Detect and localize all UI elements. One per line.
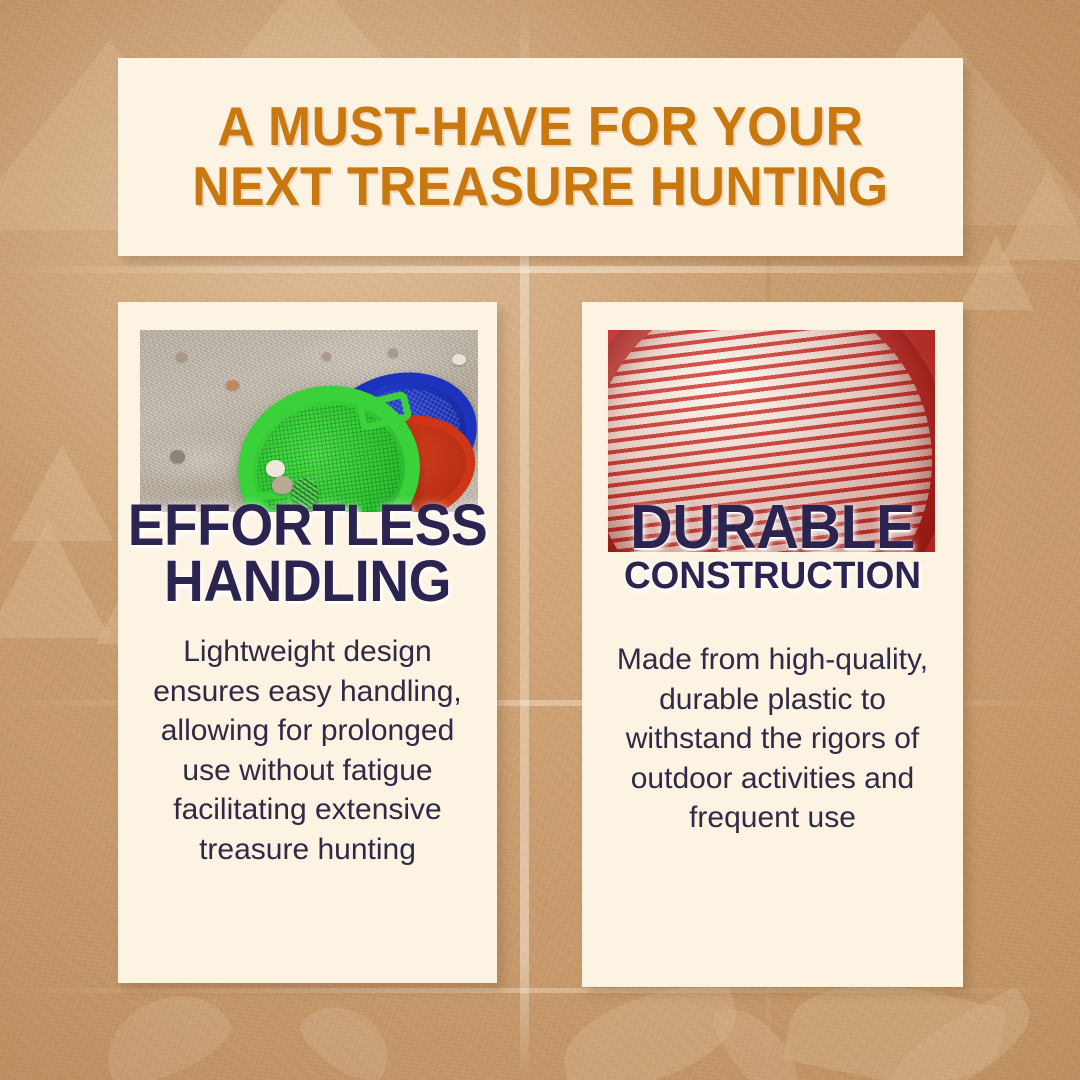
headline-line-2: NEXT TREASURE HUNTING [192, 155, 888, 217]
heading-line-2: HANDLING [127, 554, 487, 610]
card-body-durable-construction: Made from high-quality, durable plastic … [582, 640, 963, 838]
shell-icon [322, 352, 331, 360]
heading-line-1: DURABLE [592, 498, 954, 558]
card-heading-effortless-handling: EFFORTLESS HANDLING [127, 498, 487, 611]
shell-icon [452, 354, 466, 365]
paper-crease-horizontal-top [0, 266, 1080, 273]
shell-icon [226, 380, 239, 390]
shell-icon [176, 352, 187, 361]
page-title: A MUST-HAVE FOR YOUR NEXT TREASURE HUNTI… [175, 97, 905, 217]
feature-card-durable-construction: DURABLE CONSTRUCTION Made from high-qual… [582, 302, 963, 987]
headline-line-1: A MUST-HAVE FOR YOUR [217, 95, 863, 157]
headline-banner: A MUST-HAVE FOR YOUR NEXT TREASURE HUNTI… [118, 58, 963, 256]
shell-icon [170, 450, 185, 463]
shell-icon [266, 460, 285, 477]
heading-line-1: EFFORTLESS [127, 498, 487, 554]
sand-sifters-beach-photo [140, 330, 478, 512]
infographic-canvas: A MUST-HAVE FOR YOUR NEXT TREASURE HUNTI… [0, 0, 1080, 1080]
feature-card-effortless-handling: EFFORTLESS HANDLING Lightweight design e… [118, 302, 497, 983]
card-heading-durable-construction: DURABLE CONSTRUCTION [582, 498, 963, 595]
shell-icon [388, 348, 398, 357]
paper-crease-horizontal-bottom [0, 988, 1080, 993]
heading-line-2: CONSTRUCTION [588, 558, 958, 595]
card-body-effortless-handling: Lightweight design ensures easy handling… [118, 632, 497, 870]
shell-icon [272, 476, 293, 494]
